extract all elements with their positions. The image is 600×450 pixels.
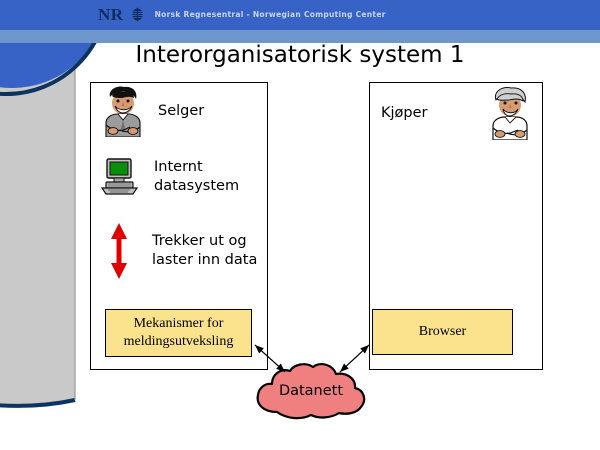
seller-label: Selger: [158, 102, 204, 121]
globe-icon: [130, 7, 145, 22]
message-exchange-box[interactable]: Mekanismer for meldingsutveksling: [105, 309, 252, 357]
salesman-clipart: [100, 85, 144, 137]
buyer-actor-row: Kjøper: [381, 86, 533, 140]
extract-load-row: Trekker ut og laster inn data: [108, 222, 257, 280]
datanett-label: Datanett: [253, 362, 369, 420]
desktop-computer-icon: [100, 157, 142, 197]
browser-box[interactable]: Browser: [372, 309, 513, 355]
gray-cylinder-decoration: [0, 60, 75, 406]
internal-system-label: Internt datasystem: [154, 158, 239, 195]
logo-tagline: Norsk Regnesentral - Norwegian Computing…: [151, 10, 386, 19]
page-title: Interorganisatorisk system 1: [0, 42, 600, 68]
datanett-cloud[interactable]: Datanett: [253, 362, 369, 420]
double-headed-vertical-arrow: [108, 222, 130, 280]
buyer-clipart: [487, 86, 533, 140]
seller-actor-row: Selger: [100, 85, 204, 137]
buyer-label: Kjøper: [381, 104, 428, 123]
logo-text: NR: [98, 6, 124, 23]
extract-load-label: Trekker ut og laster inn data: [152, 232, 257, 269]
nr-logo: NR Norsk Regnesentral - Norwegian Comput…: [98, 6, 386, 23]
internal-system-row: Internt datasystem: [100, 157, 239, 197]
slide-canvas: NR Norsk Regnesentral - Norwegian Comput…: [0, 0, 600, 450]
